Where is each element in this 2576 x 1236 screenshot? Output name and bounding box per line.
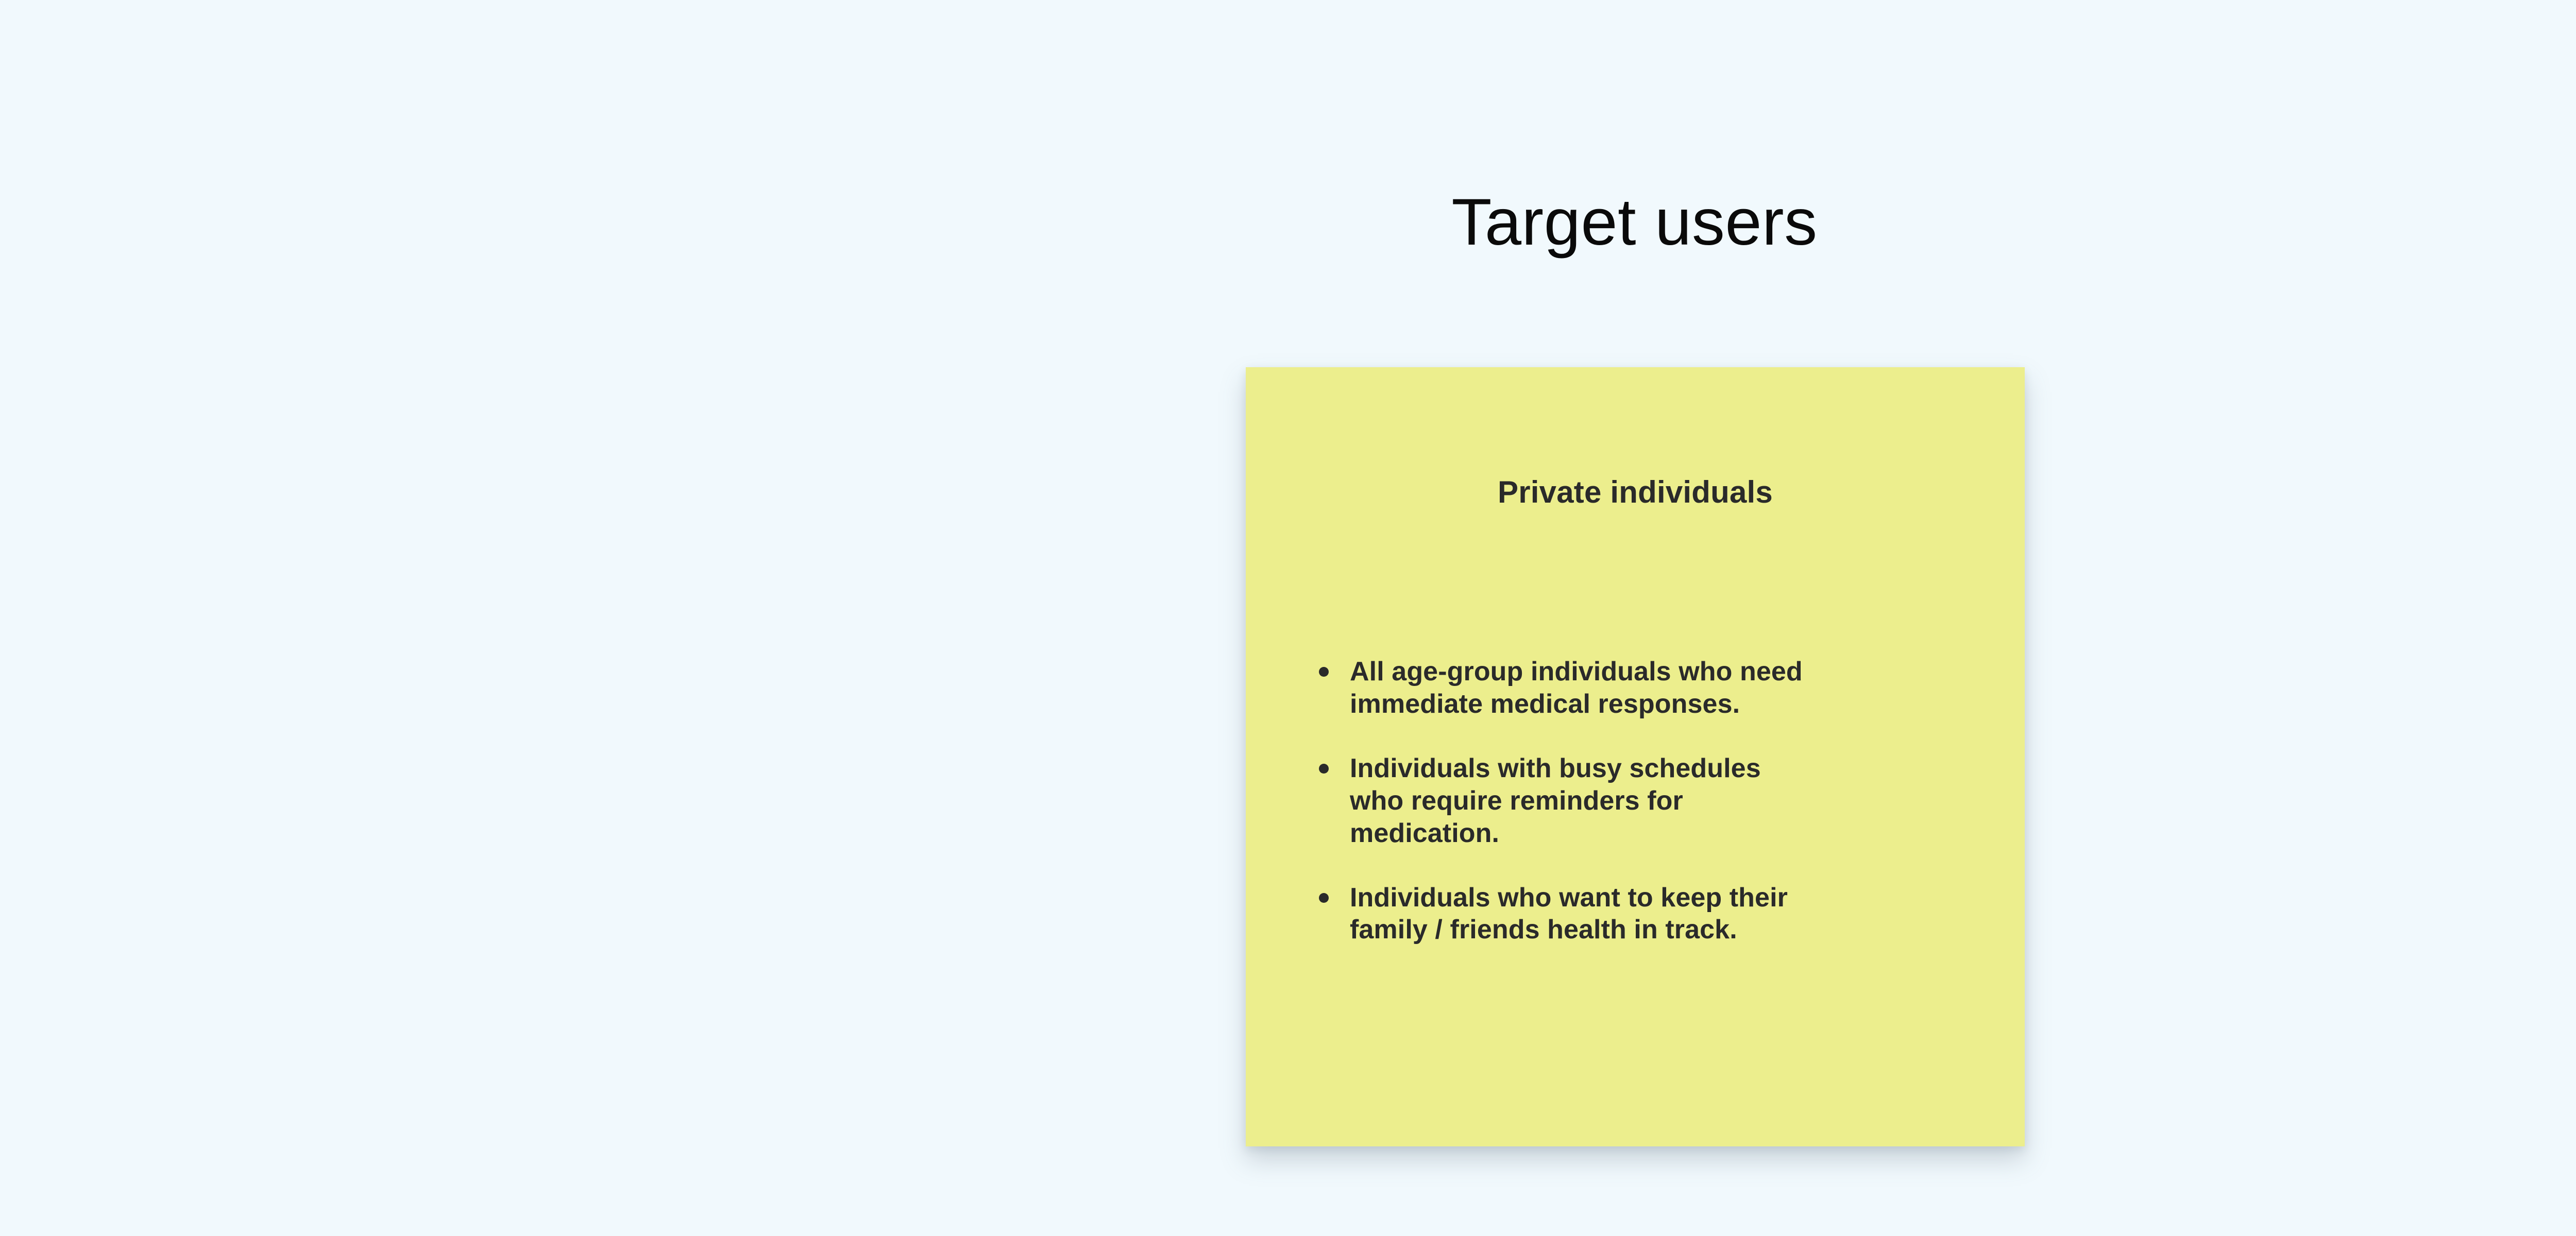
- page-title: Target users: [0, 183, 2576, 262]
- list-item-text: All age-group individuals who need immed…: [1350, 656, 1967, 720]
- bullet-dot-icon: [1319, 667, 1329, 677]
- list-item: Individuals with busy schedules who requ…: [1313, 752, 1967, 850]
- target-users-card: Private individuals All age-group indivi…: [1246, 367, 2025, 1146]
- bullet-list: All age-group individuals who need immed…: [1313, 656, 1967, 946]
- list-item: Individuals who want to keep their famil…: [1313, 882, 1967, 947]
- list-item-text: Individuals who want to keep their famil…: [1350, 882, 1967, 947]
- list-item: All age-group individuals who need immed…: [1313, 656, 1967, 720]
- card-heading: Private individuals: [1246, 474, 2025, 511]
- bullet-dot-icon: [1319, 764, 1329, 774]
- list-item-text: Individuals with busy schedules who requ…: [1350, 752, 1967, 850]
- slide-canvas: Target users Private individuals All age…: [0, 0, 2576, 1236]
- bullet-dot-icon: [1319, 893, 1329, 903]
